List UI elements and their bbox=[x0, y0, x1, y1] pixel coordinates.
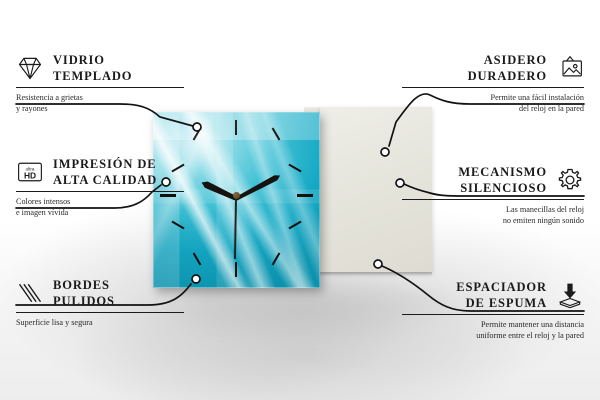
callout-desc-line2: no emiten ningún sonido bbox=[503, 216, 584, 225]
callout-desc-line1: Resistencia a grietas bbox=[16, 93, 83, 102]
callout-title-line1: BORDES bbox=[53, 278, 110, 292]
callout-divider bbox=[402, 314, 584, 315]
callout-tempered-glass: VIDRIO TEMPLADO Resistencia a grietas y … bbox=[16, 52, 184, 115]
ultra-hd-icon: ultra HD bbox=[16, 158, 44, 186]
callout-desc-line2: del reloj en la pared bbox=[519, 104, 584, 113]
callout-title-line2: DE ESPUMA bbox=[466, 296, 547, 310]
callout-title-line2: PULIDOS bbox=[53, 294, 115, 308]
callout-title-line1: MECANISMO bbox=[458, 165, 547, 179]
foam-spacer-arrow-icon bbox=[556, 281, 584, 309]
callout-description: Resistencia a grietas y rayones bbox=[16, 92, 184, 115]
callout-description: Permite mantener una distancia uniforme … bbox=[402, 319, 584, 342]
callout-desc-line2: uniforme entre el reloj y la pared bbox=[476, 331, 584, 340]
callout-title-line1: VIDRIO bbox=[53, 53, 105, 67]
callout-title-line1: ASIDERO bbox=[484, 53, 547, 67]
callout-divider bbox=[16, 312, 184, 313]
callout-title-line2: DURADERO bbox=[468, 69, 547, 83]
callout-desc-line1: Permite mantener una distancia bbox=[481, 320, 584, 329]
callout-divider bbox=[402, 199, 584, 200]
callout-header: MECANISMO SILENCIOSO bbox=[402, 164, 584, 196]
callout-header: ASIDERO DURADERO bbox=[402, 52, 584, 84]
callout-title-line2: ALTA CALIDAD bbox=[53, 173, 157, 187]
callout-title: ASIDERO DURADERO bbox=[468, 52, 547, 84]
callout-title: IMPRESIÓN DE ALTA CALIDAD bbox=[53, 156, 157, 188]
callout-title: VIDRIO TEMPLADO bbox=[53, 52, 132, 84]
callout-desc-line2: y rayones bbox=[16, 104, 48, 113]
callout-header: ultra HD IMPRESIÓN DE ALTA CALIDAD bbox=[16, 156, 184, 188]
callout-silent-mechanism: MECANISMO SILENCIOSO Las manecillas del … bbox=[402, 164, 584, 227]
callout-desc-line1: Las manecillas del reloj bbox=[506, 205, 584, 214]
callout-divider bbox=[16, 191, 184, 192]
polished-edges-icon bbox=[16, 279, 44, 307]
callout-divider bbox=[16, 87, 184, 88]
callout-title-line2: SILENCIOSO bbox=[460, 181, 547, 195]
picture-frame-hanger-icon bbox=[556, 54, 584, 82]
svg-text:HD: HD bbox=[24, 170, 36, 180]
callout-foam-spacer: ESPACIADOR DE ESPUMA Permite mantener un… bbox=[402, 279, 584, 342]
callout-divider bbox=[402, 87, 584, 88]
callout-title-line1: IMPRESIÓN DE bbox=[53, 157, 157, 171]
callout-title: MECANISMO SILENCIOSO bbox=[458, 164, 547, 196]
callout-description: Permite una fácil instalación del reloj … bbox=[402, 92, 584, 115]
diamond-icon bbox=[16, 54, 44, 82]
callout-title: BORDES PULIDOS bbox=[53, 277, 115, 309]
callout-polished-edges: BORDES PULIDOS Superficie lisa y segura bbox=[16, 277, 184, 328]
callout-description: Colores intensos e imagen vívida bbox=[16, 196, 184, 219]
callout-title-line2: TEMPLADO bbox=[53, 69, 132, 83]
callout-high-quality-print: ultra HD IMPRESIÓN DE ALTA CALIDAD Color… bbox=[16, 156, 184, 219]
callout-desc-line1: Permite una fácil instalación bbox=[491, 93, 584, 102]
callout-description: Las manecillas del reloj no emiten ningú… bbox=[402, 204, 584, 227]
callout-title-line1: ESPACIADOR bbox=[456, 280, 547, 294]
gear-icon bbox=[556, 166, 584, 194]
callout-title: ESPACIADOR DE ESPUMA bbox=[456, 279, 547, 311]
callout-desc-line2: e imagen vívida bbox=[16, 208, 68, 217]
callout-header: BORDES PULIDOS bbox=[16, 277, 184, 309]
callout-desc-line1: Colores intensos bbox=[16, 197, 70, 206]
infographic-canvas: VIDRIO TEMPLADO Resistencia a grietas y … bbox=[0, 0, 600, 400]
callout-header: VIDRIO TEMPLADO bbox=[16, 52, 184, 84]
callout-header: ESPACIADOR DE ESPUMA bbox=[402, 279, 584, 311]
callout-desc-line1: Superficie lisa y segura bbox=[16, 318, 93, 327]
callout-durable-hanger: ASIDERO DURADERO Permite una fácil insta… bbox=[402, 52, 584, 115]
callout-description: Superficie lisa y segura bbox=[16, 317, 184, 328]
